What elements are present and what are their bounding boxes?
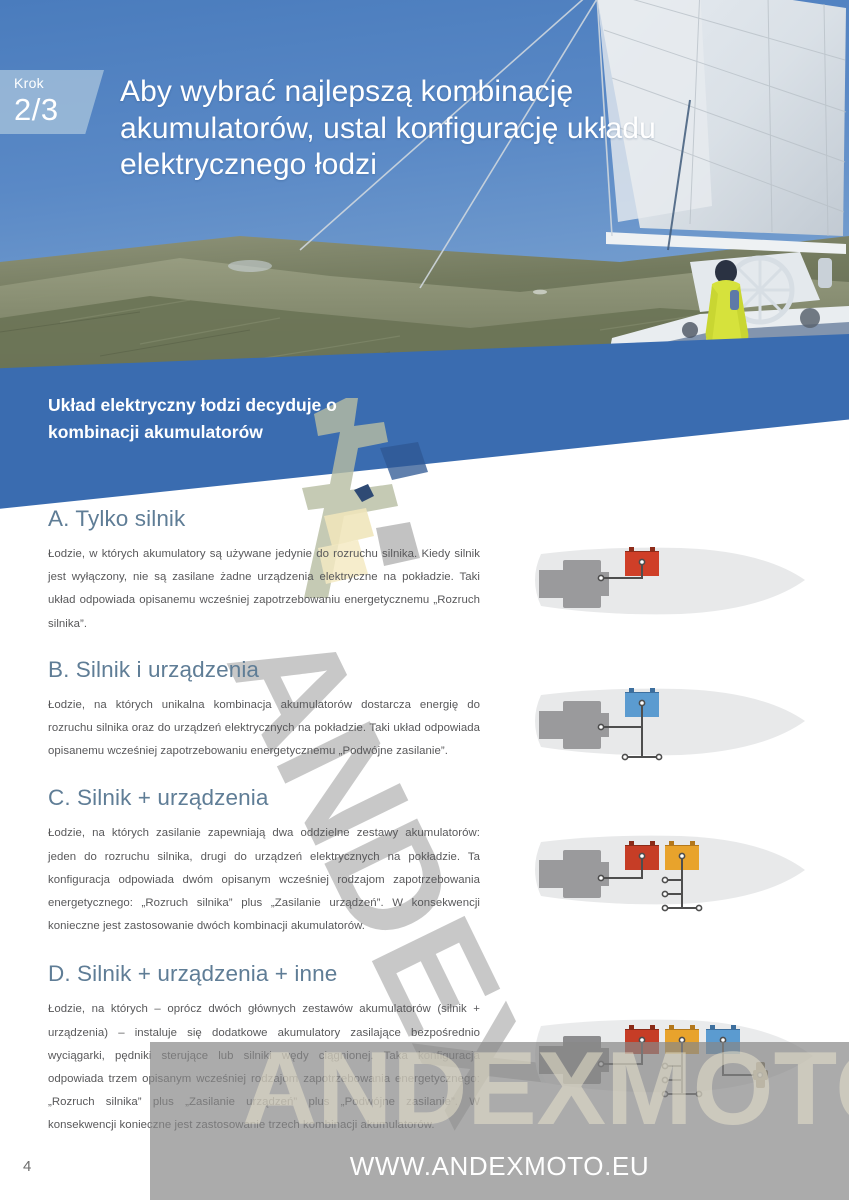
section-b-heading: B. Silnik i urządzenia — [48, 656, 849, 684]
section-a-body: Łodzie, w których akumulatory są używane… — [48, 543, 480, 636]
boat-diagram-a — [513, 540, 833, 650]
page-root: Krok 2/3 Aby wybrać najlepszą kombinację… — [0, 0, 849, 1200]
band-subtitle: Układ elektryczny łodzi decyduje o kombi… — [48, 392, 378, 445]
section-b-body: Łodzie, na których unikalna kombinacja a… — [48, 694, 480, 764]
step-badge-label: Krok — [14, 75, 104, 92]
section-a-heading: A. Tylko silnik — [48, 505, 849, 533]
section-d-heading: D. Silnik + urządzenia + inne — [48, 960, 849, 988]
boat-diagram-c — [513, 828, 843, 953]
page-title: Aby wybrać najlepszą kombinację akumulat… — [120, 74, 720, 184]
section-c-body: Łodzie, na których zasilanie zapewniają … — [48, 822, 480, 938]
boat-diagram-b — [513, 681, 833, 796]
page-number: 4 — [23, 1158, 31, 1175]
website-url[interactable]: WWW.ANDEXMOTO.EU — [0, 1151, 849, 1182]
